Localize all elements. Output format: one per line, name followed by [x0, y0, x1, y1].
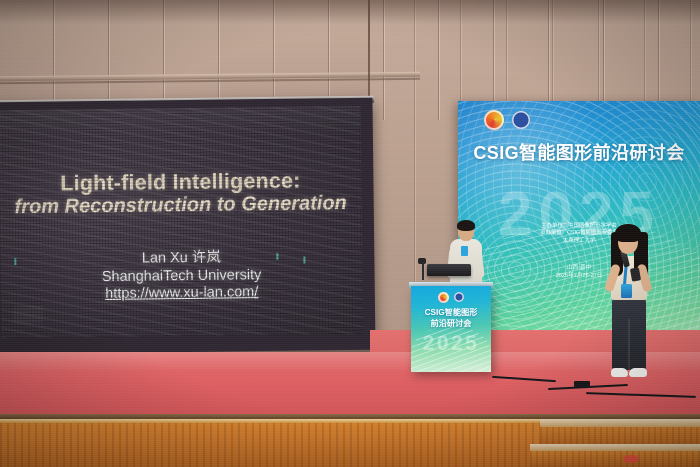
floor-cable-box — [574, 381, 590, 387]
university-logo-icon — [512, 111, 530, 129]
led-moire-pattern — [0, 106, 363, 338]
male-speaker-at-podium — [449, 222, 483, 288]
stage-steps[interactable] — [530, 419, 700, 467]
location-line: 山西·晋中 — [458, 264, 700, 272]
csig-logo-icon — [484, 110, 504, 130]
led-screen-surface: Light-field Intelligence: from Reconstru… — [0, 106, 363, 338]
led-presentation-screen[interactable]: Light-field Intelligence: from Reconstru… — [0, 98, 376, 361]
step-1-riser — [540, 427, 700, 444]
speaker-hair — [457, 220, 475, 231]
host-badge — [621, 284, 632, 298]
banner-organizers: 主办单位：中国图象图形学学会 承办单位：CSIG智能图形专委会 太原理工大学 — [458, 223, 700, 245]
step-2-riser — [530, 451, 700, 467]
step-1-tread — [540, 419, 700, 427]
podium-university-logo-icon — [454, 292, 464, 302]
banner-title: CSIG智能图形前沿研讨会 — [458, 139, 700, 165]
podium-year-watermark: 2025 — [411, 332, 491, 356]
speaker-podium: 2025 CSIG智能图形 前沿研讨会 — [411, 286, 491, 372]
host-left-shoe — [611, 368, 628, 377]
banner-location-date: 山西·晋中 2025年7月25-27日 — [458, 264, 700, 281]
organizer-line-2: 承办单位：CSIG智能图形专委会 — [458, 230, 700, 237]
speaker-badge — [461, 246, 468, 256]
podium-microphone-stand — [422, 262, 424, 280]
host-hair-top — [615, 224, 641, 242]
host-trouser-seam — [628, 319, 630, 371]
ceiling-shadow — [0, 0, 700, 24]
female-host-with-microphone — [604, 224, 656, 384]
podium-title-line-2: 前沿研讨会 — [411, 319, 491, 330]
podium-title: CSIG智能图形 前沿研讨会 — [411, 308, 491, 329]
date-line: 2025年7月25-27日 — [458, 272, 700, 280]
host-right-shoe — [629, 368, 647, 377]
step-2-tread — [530, 444, 700, 451]
red-floor-marker — [623, 455, 639, 463]
podium-logo-row — [411, 292, 491, 303]
conference-stage-photo: Light-field Intelligence: from Reconstru… — [0, 0, 700, 467]
podium-laptop — [427, 264, 471, 276]
podium-title-line-1: CSIG智能图形 — [411, 308, 491, 319]
banner-logo-row — [484, 110, 530, 130]
podium-csig-logo-icon — [438, 292, 449, 303]
carpet-sheen — [0, 352, 700, 372]
organizer-line-3: 太原理工大学 — [458, 238, 700, 245]
